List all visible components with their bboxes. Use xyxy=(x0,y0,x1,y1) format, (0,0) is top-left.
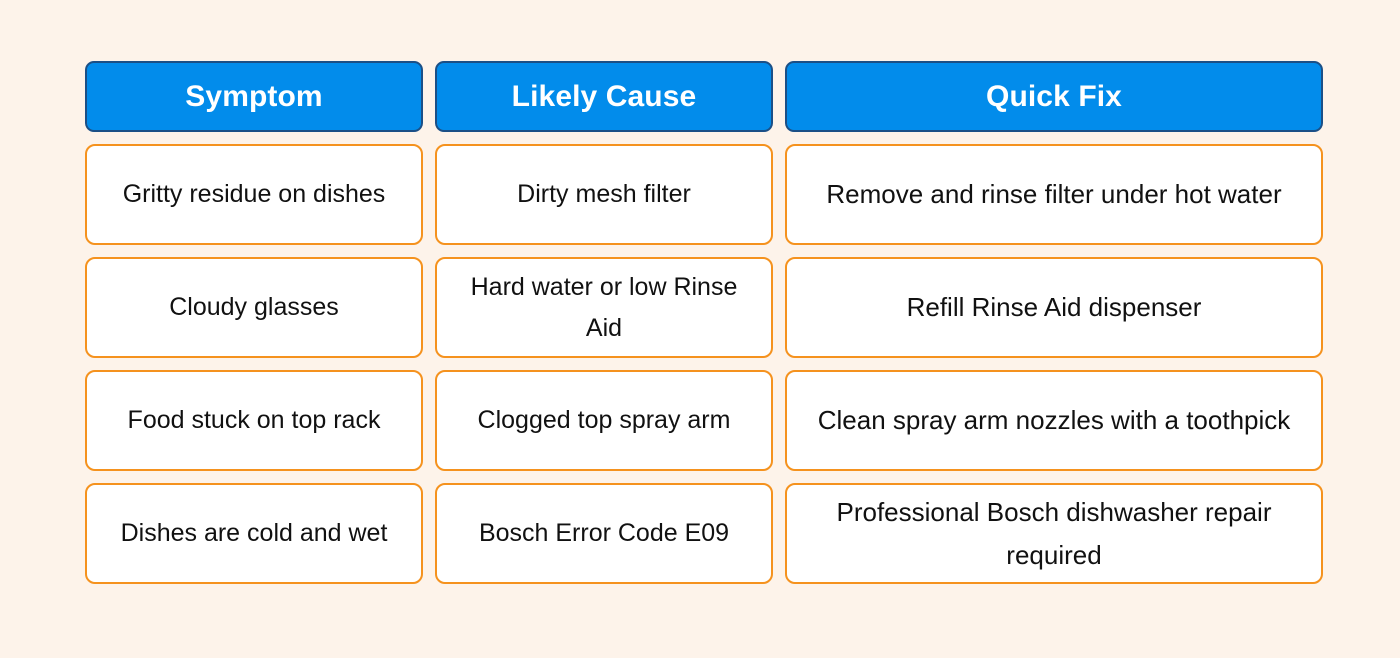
cell-likely-cause-text: Dirty mesh filter xyxy=(451,174,757,215)
cell-quick-fix-text: Refill Rinse Aid dispenser xyxy=(801,286,1307,328)
cell-quick-fix-text: Remove and rinse filter under hot water xyxy=(801,173,1307,215)
troubleshooting-table: Symptom Likely Cause Quick Fix Gritty re… xyxy=(85,61,1315,596)
table-header-row: Symptom Likely Cause Quick Fix xyxy=(85,61,1315,132)
cell-likely-cause-text: Clogged top spray arm xyxy=(451,400,757,441)
column-header-quick-fix: Quick Fix xyxy=(785,61,1323,132)
column-header-likely-cause: Likely Cause xyxy=(435,61,773,132)
table-row: Food stuck on top rack Clogged top spray… xyxy=(85,370,1315,471)
cell-symptom: Cloudy glasses xyxy=(85,257,423,358)
cell-likely-cause: Hard water or low Rinse Aid xyxy=(435,257,773,358)
cell-symptom-text: Cloudy glasses xyxy=(101,287,407,328)
cell-likely-cause: Bosch Error Code E09 xyxy=(435,483,773,584)
cell-symptom-text: Gritty residue on dishes xyxy=(101,174,407,215)
table-row: Dishes are cold and wet Bosch Error Code… xyxy=(85,483,1315,584)
cell-likely-cause: Clogged top spray arm xyxy=(435,370,773,471)
cell-symptom-text: Food stuck on top rack xyxy=(101,400,407,441)
cell-symptom: Dishes are cold and wet xyxy=(85,483,423,584)
cell-quick-fix: Remove and rinse filter under hot water xyxy=(785,144,1323,245)
cell-likely-cause-text: Hard water or low Rinse Aid xyxy=(451,267,757,348)
cell-quick-fix: Refill Rinse Aid dispenser xyxy=(785,257,1323,358)
column-header-symptom: Symptom xyxy=(85,61,423,132)
cell-symptom: Food stuck on top rack xyxy=(85,370,423,471)
table-row: Cloudy glasses Hard water or low Rinse A… xyxy=(85,257,1315,358)
column-header-symptom-label: Symptom xyxy=(87,80,421,113)
column-header-quick-fix-label: Quick Fix xyxy=(787,80,1321,113)
cell-symptom: Gritty residue on dishes xyxy=(85,144,423,245)
cell-quick-fix-text: Professional Bosch dishwasher repair req… xyxy=(801,491,1307,575)
cell-quick-fix: Clean spray arm nozzles with a toothpick xyxy=(785,370,1323,471)
column-header-likely-cause-label: Likely Cause xyxy=(437,80,771,113)
table-row: Gritty residue on dishes Dirty mesh filt… xyxy=(85,144,1315,245)
cell-likely-cause-text: Bosch Error Code E09 xyxy=(451,513,757,554)
cell-quick-fix-text: Clean spray arm nozzles with a toothpick xyxy=(801,399,1307,441)
cell-likely-cause: Dirty mesh filter xyxy=(435,144,773,245)
cell-symptom-text: Dishes are cold and wet xyxy=(101,513,407,554)
cell-quick-fix: Professional Bosch dishwasher repair req… xyxy=(785,483,1323,584)
